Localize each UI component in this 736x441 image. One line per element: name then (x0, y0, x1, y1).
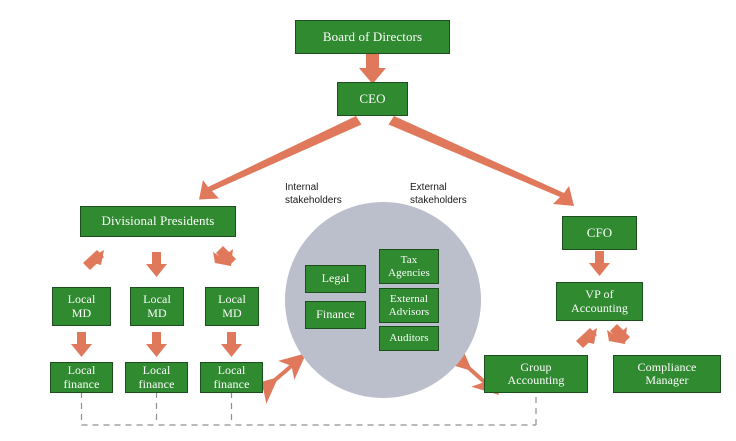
node-local-finance-2[interactable]: Local finance (125, 362, 188, 393)
dashed-reporting-lines (82, 392, 537, 425)
node-cfo[interactable]: CFO (562, 216, 637, 250)
node-legal[interactable]: Legal (305, 265, 366, 293)
arrow-local-md-2-to-local-finance-2 (146, 332, 167, 357)
node-local-finance-1[interactable]: Local finance (50, 362, 113, 393)
node-local-finance-3[interactable]: Local finance (200, 362, 263, 393)
arrow-board-to-ceo (359, 54, 386, 84)
arrow-local-md-1-to-local-finance-1 (71, 332, 92, 357)
arrow-local-md-3-to-local-finance-3 (221, 332, 242, 357)
node-local-md-1[interactable]: Local MD (52, 287, 111, 326)
org-chart-diagram: Internal stakeholders External stakehold… (0, 0, 736, 441)
node-board-of-directors[interactable]: Board of Directors (295, 20, 450, 54)
arrow-divisional-to-local-md-1 (83, 250, 104, 270)
arrow-local-finance-to-stakeholders (268, 362, 296, 386)
node-tax-agencies[interactable]: Tax Agencies (379, 249, 439, 284)
arrow-divisional-to-local-md-2 (146, 252, 167, 277)
arrow-vp-to-compliance-manager (607, 324, 630, 344)
node-vp-of-accounting[interactable]: VP of Accounting (556, 282, 643, 321)
node-compliance-manager[interactable]: Compliance Manager (613, 355, 721, 393)
caption-internal-stakeholders: Internal stakeholders (285, 182, 375, 208)
node-group-accounting[interactable]: Group Accounting (484, 355, 588, 393)
arrow-cfo-to-vp-accounting (589, 251, 610, 276)
caption-external-stakeholders: External stakeholders (410, 182, 500, 208)
node-local-md-2[interactable]: Local MD (130, 287, 184, 326)
node-external-advisors[interactable]: External Advisors (379, 288, 439, 323)
node-local-md-3[interactable]: Local MD (205, 287, 259, 326)
arrow-vp-to-group-accounting (576, 328, 597, 348)
arrow-divisional-to-local-md-3 (213, 246, 236, 266)
node-auditors[interactable]: Auditors (379, 326, 439, 351)
node-finance[interactable]: Finance (305, 301, 366, 329)
node-ceo[interactable]: CEO (337, 82, 408, 116)
node-divisional-presidents[interactable]: Divisional Presidents (80, 206, 236, 237)
